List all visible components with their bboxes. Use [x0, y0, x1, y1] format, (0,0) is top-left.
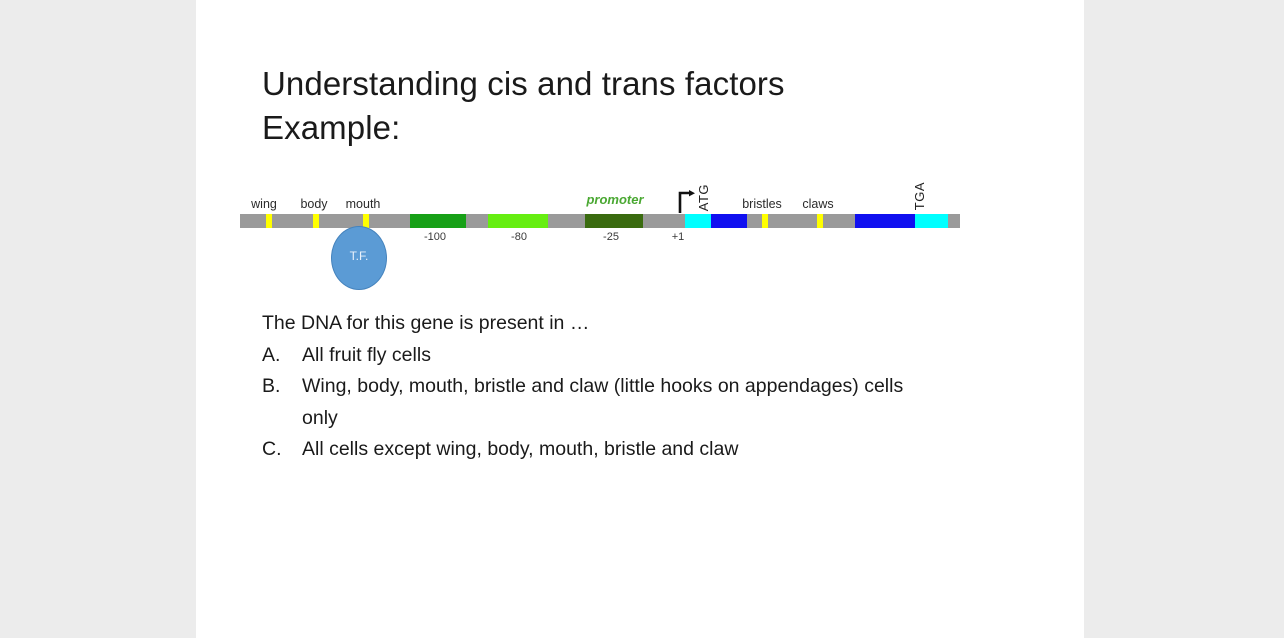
transcription-start-arrow-icon	[678, 190, 696, 214]
page-title: Understanding cis and trans factors Exam…	[262, 62, 962, 150]
bristles-marker	[762, 214, 768, 228]
title-line-primary: Understanding cis and trans factors	[262, 62, 962, 106]
regulatory-element-100	[410, 214, 466, 228]
answer-choice-text: All cells except wing, body, mouth, bris…	[302, 434, 922, 466]
answer-choice-text: All fruit fly cells	[302, 340, 922, 372]
question-block: The DNA for this gene is present in … A.…	[262, 308, 922, 466]
three-prime-utr	[915, 214, 948, 228]
stop-codon-label: TGA	[912, 182, 927, 210]
enhancer-body-marker	[313, 214, 319, 228]
answer-choice-a[interactable]: A.All fruit fly cells	[262, 340, 922, 372]
exon-1-coding	[711, 214, 747, 228]
answer-choice-letter: A.	[262, 340, 302, 372]
answer-choice-b[interactable]: B.Wing, body, mouth, bristle and claw (l…	[262, 371, 922, 434]
regulatory-element-80	[488, 214, 548, 228]
dna-region-label-bristles: bristles	[742, 197, 782, 211]
answer-choice-list: A.All fruit fly cellsB.Wing, body, mouth…	[262, 340, 922, 466]
dna-position-label-minus100: -100	[424, 231, 446, 243]
claws-marker	[817, 214, 823, 228]
title-line-secondary: Example:	[262, 106, 962, 150]
dna-region-label-mouth: mouth	[346, 197, 381, 211]
slide-canvas: Understanding cis and trans factors Exam…	[196, 0, 1084, 638]
dna-position-label-plus1: +1	[672, 231, 685, 243]
answer-choice-text: Wing, body, mouth, bristle and claw (lit…	[302, 371, 922, 434]
transcription-factor-shape: T.F.	[331, 226, 387, 290]
dna-position-label-minus80: -80	[511, 231, 527, 243]
answer-choice-letter: C.	[262, 434, 302, 466]
dna-region-label-wing: wing	[251, 197, 277, 211]
enhancer-wing-marker	[266, 214, 272, 228]
start-codon-label: ATG	[696, 184, 711, 211]
question-stem: The DNA for this gene is present in …	[262, 308, 922, 340]
dna-region-label-claws: claws	[802, 197, 833, 211]
promoter-label: promoter	[586, 192, 643, 207]
five-prime-utr	[685, 214, 711, 228]
answer-choice-c[interactable]: C.All cells except wing, body, mouth, br…	[262, 434, 922, 466]
exon-2-coding	[855, 214, 915, 228]
answer-choice-letter: B.	[262, 371, 302, 403]
transcription-factor-label: T.F.	[332, 249, 386, 263]
gene-structure-diagram: wingbodymouthbristlesclaws -100-80-25+1 …	[240, 180, 970, 296]
promoter-element-25	[585, 214, 643, 228]
dna-position-label-minus25: -25	[603, 231, 619, 243]
dna-region-label-body: body	[300, 197, 327, 211]
